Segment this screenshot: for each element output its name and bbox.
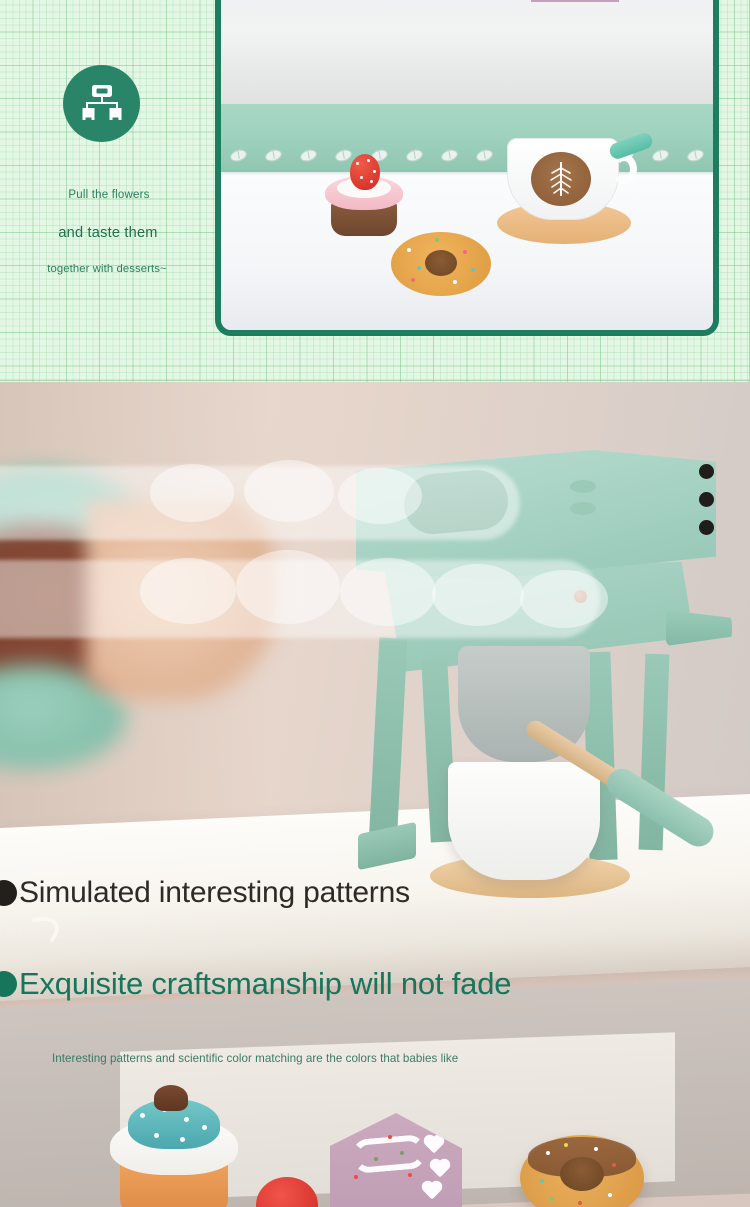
grid-caption: Pull the flowers and taste them together… — [0, 190, 214, 275]
grid-feature-section: Pull the flowers and taste them together… — [0, 0, 750, 382]
hero-subtitle: Interesting patterns and scientific colo… — [52, 1052, 458, 1065]
swoosh-icon — [30, 914, 74, 946]
photo-top-shelf — [221, 0, 713, 104]
bullet-dot-green — [0, 971, 17, 997]
org-chart-icon — [63, 65, 140, 142]
toy-latte-mug — [501, 136, 627, 244]
hero-heading-2: Exquisite craftsmanship will not fade — [19, 966, 511, 1002]
toy-sprinkle-donut — [391, 232, 491, 296]
decorative-and-fragment: and — [0, 923, 22, 939]
hero-heading-2-row: Exquisite craftsmanship will not fade — [0, 966, 511, 1002]
dessert-shelf-photo — [215, 0, 719, 336]
grid-left-column: Pull the flowers and taste them together… — [0, 0, 214, 382]
hero-heading-1: Simulated interesting patterns — [19, 876, 410, 910]
hero-photo-section: Simulated interesting patterns and Exqui… — [0, 382, 750, 1207]
caption-line-3: together with desserts~ — [0, 264, 214, 275]
toy-purple-cake-slice — [531, 0, 619, 2]
caption-line-2: and taste them — [0, 226, 214, 241]
toy-strawberry-cupcake — [325, 156, 403, 236]
caption-line-1: Pull the flowers — [0, 190, 214, 202]
hero-heading-1-row: Simulated interesting patterns — [0, 876, 410, 910]
bullet-dot-dark — [0, 880, 17, 906]
product-detail-page: Pull the flowers and taste them together… — [0, 0, 750, 1207]
hero-copy-overlay: Simulated interesting patterns and Exqui… — [0, 382, 750, 1207]
